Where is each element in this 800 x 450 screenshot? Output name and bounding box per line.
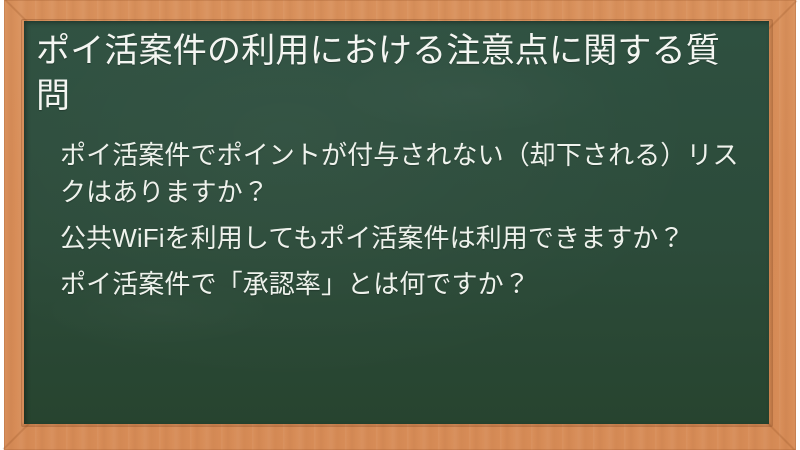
list-item: ポイ活案件でポイントが付与されない（却下される）リスクはありますか？ xyxy=(60,137,745,211)
chalkboard: ポイ活案件の利用における注意点に関する質問 ポイ活案件でポイントが付与されない（… xyxy=(24,21,769,424)
list-item: 公共WiFiを利用してもポイ活案件は利用できますか？ xyxy=(60,220,745,257)
board-content: ポイ活案件の利用における注意点に関する質問 ポイ活案件でポイントが付与されない（… xyxy=(24,21,769,424)
question-list: ポイ活案件でポイントが付与されない（却下される）リスクはありますか？ 公共WiF… xyxy=(30,137,755,303)
slide-canvas: ポイ活案件の利用における注意点に関する質問 ポイ活案件でポイントが付与されない（… xyxy=(0,0,800,450)
list-item: ポイ活案件で「承認率」とは何ですか？ xyxy=(60,266,745,303)
slide-title: ポイ活案件の利用における注意点に関する質問 xyxy=(30,29,755,119)
